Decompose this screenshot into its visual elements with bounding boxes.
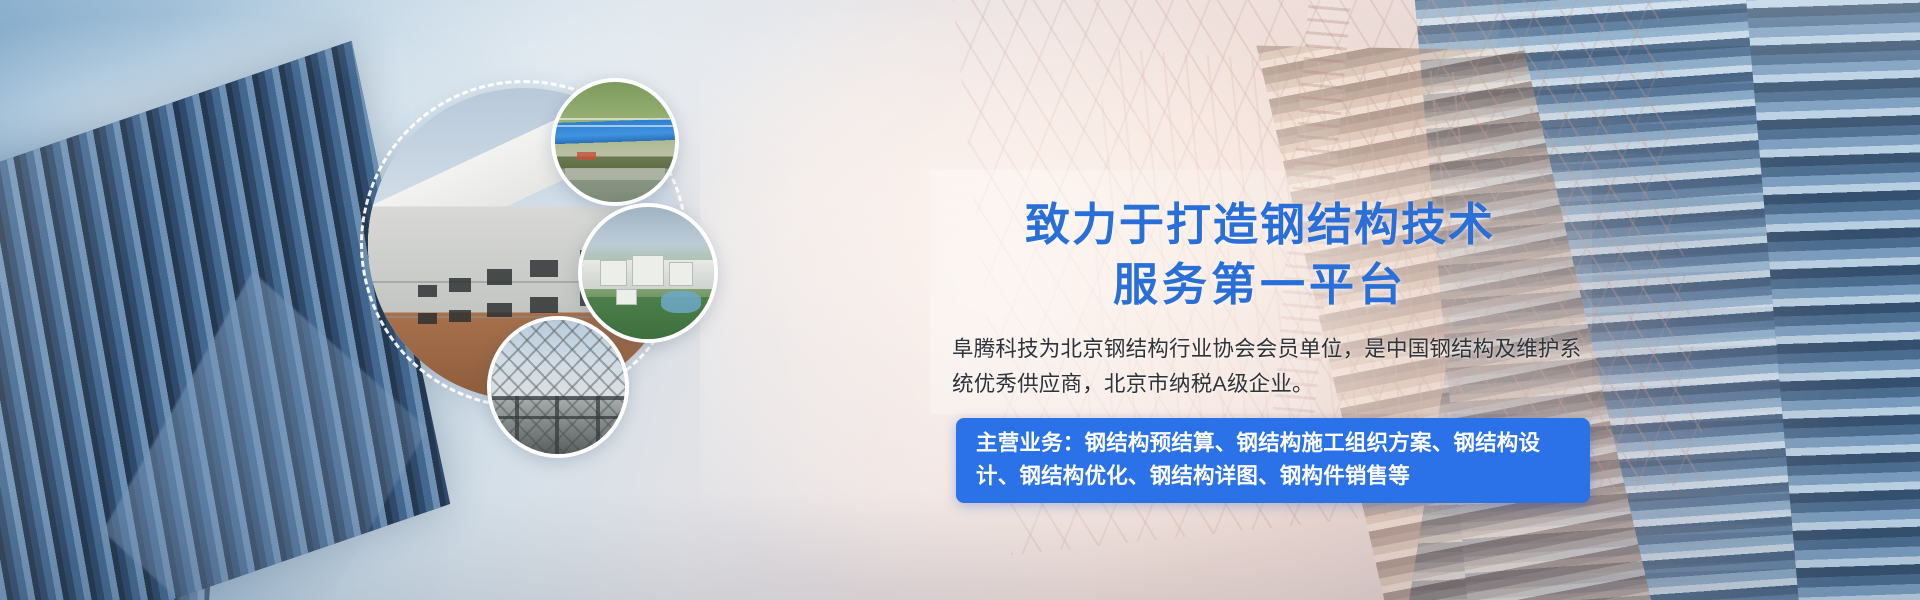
headline-line-2: 服务第一平台 [930, 256, 1590, 316]
headline-line-1: 致力于打造钢结构技术 [930, 196, 1590, 256]
aerial-blue-roof-plant-image [555, 82, 675, 202]
intro-paragraph: 阜腾科技为北京钢结构行业协会会员单位，是中国钢结构及维护系统优秀供应商，北京市纳… [952, 332, 1592, 402]
steel-truss-structure-image [491, 320, 625, 454]
photo-circle-aerial-plant [551, 78, 679, 206]
hero-banner: 致力于打造钢结构技术 服务第一平台 阜腾科技为北京钢结构行业协会会员单位，是中国… [0, 0, 1920, 600]
services-badge: 主营业务：钢结构预结算、钢结构施工组织方案、钢结构设计、钢结构优化、钢结构详图、… [956, 418, 1590, 503]
photo-circle-steel-truss [487, 316, 629, 458]
page-title: 致力于打造钢结构技术 服务第一平台 [930, 196, 1590, 316]
